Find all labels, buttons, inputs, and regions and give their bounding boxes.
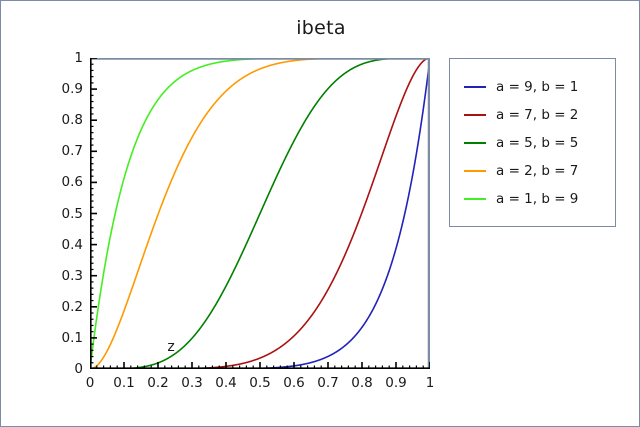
legend-item-label: a = 9, b = 1 xyxy=(496,79,578,95)
page-title: ibeta xyxy=(1,17,640,39)
legend-item-label: a = 7, b = 2 xyxy=(496,107,578,123)
x-axis-label: z xyxy=(1,339,341,355)
y-axis-tick-label: 0.6 xyxy=(62,174,83,190)
x-axis-tick-label: 0.4 xyxy=(215,375,236,391)
y-axis-tick-label: 0.9 xyxy=(62,81,83,97)
legend-item-label: a = 2, b = 7 xyxy=(496,163,578,179)
plot-svg xyxy=(90,58,430,369)
plot-area: 00.10.20.30.40.50.60.70.80.91 00.10.20.3… xyxy=(90,58,430,369)
legend-color-swatch xyxy=(464,142,486,144)
x-axis-tick-label: 0.6 xyxy=(283,375,304,391)
legend-item-label: a = 5, b = 5 xyxy=(496,135,578,151)
x-axis-tick-label: 1 xyxy=(426,375,435,391)
legend-color-swatch xyxy=(464,114,486,116)
x-axis-tick-label: 0.8 xyxy=(351,375,372,391)
legend-item-label: a = 1, b = 9 xyxy=(496,191,578,207)
x-axis-tick-label: 0.1 xyxy=(113,375,134,391)
x-axis-tick-label: 0.2 xyxy=(147,375,168,391)
y-axis-tick-label: 0 xyxy=(74,361,83,377)
x-axis-tick-label: 0.5 xyxy=(249,375,270,391)
y-axis-tick-label: 0.4 xyxy=(62,237,83,253)
legend-item[interactable]: a = 9, b = 1 xyxy=(450,73,615,101)
y-axis-tick-label: 0.5 xyxy=(62,206,83,222)
legend-color-swatch xyxy=(464,198,486,200)
x-axis-tick-label: 0.3 xyxy=(181,375,202,391)
legend-color-swatch xyxy=(464,170,486,172)
legend-color-swatch xyxy=(464,86,486,88)
legend-item[interactable]: a = 7, b = 2 xyxy=(450,101,615,129)
chart-canvas: ibeta 00.10.20.30.40.50.60.70.80.91 00.1… xyxy=(0,0,640,427)
y-axis-tick-label: 0.8 xyxy=(62,112,83,128)
y-axis-tick-label: 0.2 xyxy=(62,299,83,315)
legend-item[interactable]: a = 5, b = 5 xyxy=(450,129,615,157)
y-axis-tick-label: 0.7 xyxy=(62,143,83,159)
y-axis-tick-label: 1 xyxy=(74,50,83,66)
legend-item[interactable]: a = 1, b = 9 xyxy=(450,185,615,213)
y-axis-tick-label: 0.3 xyxy=(62,268,83,284)
legend-item[interactable]: a = 2, b = 7 xyxy=(450,157,615,185)
x-axis-tick-label: 0.9 xyxy=(385,375,406,391)
x-axis-tick-label: 0 xyxy=(86,375,95,391)
legend: a = 9, b = 1a = 7, b = 2a = 5, b = 5a = … xyxy=(449,58,616,227)
x-axis-tick-label: 0.7 xyxy=(317,375,338,391)
